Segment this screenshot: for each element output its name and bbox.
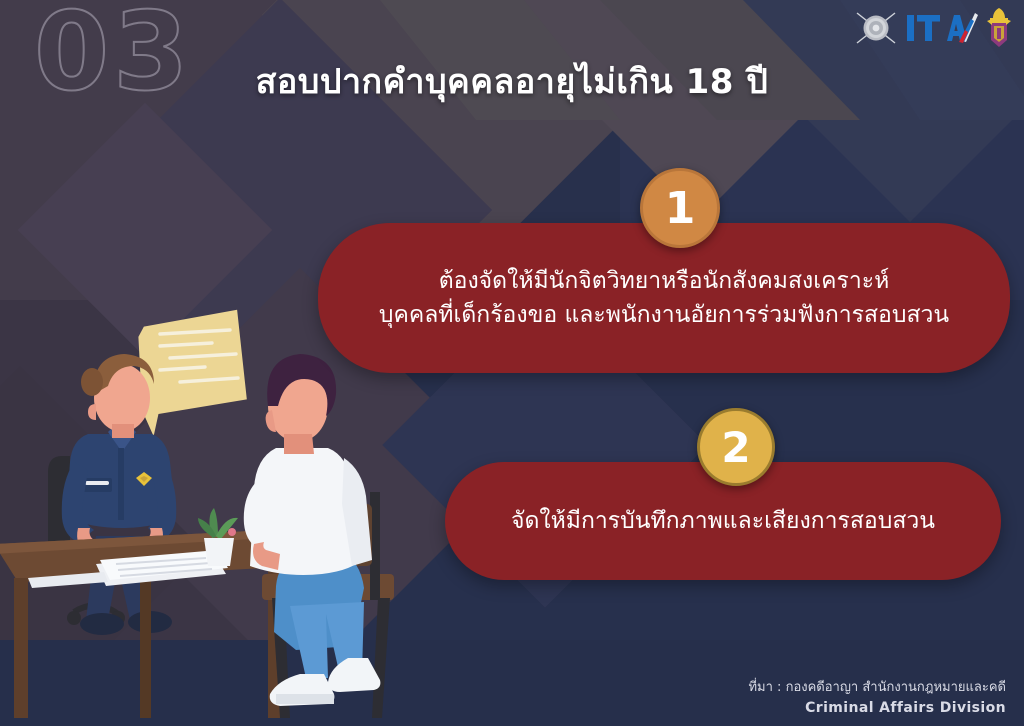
footer-source: ที่มา : กองคดีอาญา สำนักงานกฎหมายและคดี … [748,679,1006,718]
item-2-line-1: จัดให้มีการบันทึกภาพและเสียงการสอบสวน [511,504,935,538]
speech-bubble-icon [137,309,248,436]
item-box-1: ต้องจัดให้มีนักจิตวิทยาหรือนักสังคมสงเคร… [318,223,1010,373]
slide-root: 03 สอบปากคำบุคคลอายุไม่เกิน 18 ปี [0,0,1024,726]
footer-source-english: Criminal Affairs Division [748,698,1006,718]
page-title: สอบปากคำบุคคลอายุไม่เกิน 18 ปี [0,54,1024,108]
logo-group [854,6,1012,50]
item-1-line-2: บุคคลที่เด็กร้องขอ และพนักงานอัยการร่วมฟ… [379,298,949,332]
item-1-number-badge: 1 [640,168,720,248]
item-1-line-1: ต้องจัดให้มีนักจิตวิทยาหรือนักสังคมสงเคร… [439,264,890,298]
royal-garuda-emblem-logo [986,7,1012,49]
item-2-number-badge: 2 [697,408,775,486]
footer-source-thai: ที่มา : กองคดีอาญา สำนักงานกฎหมายและคดี [748,679,1006,698]
police-emblem-logo [854,7,898,49]
police-interview-illustration [0,306,420,726]
ita-logo [905,8,979,48]
